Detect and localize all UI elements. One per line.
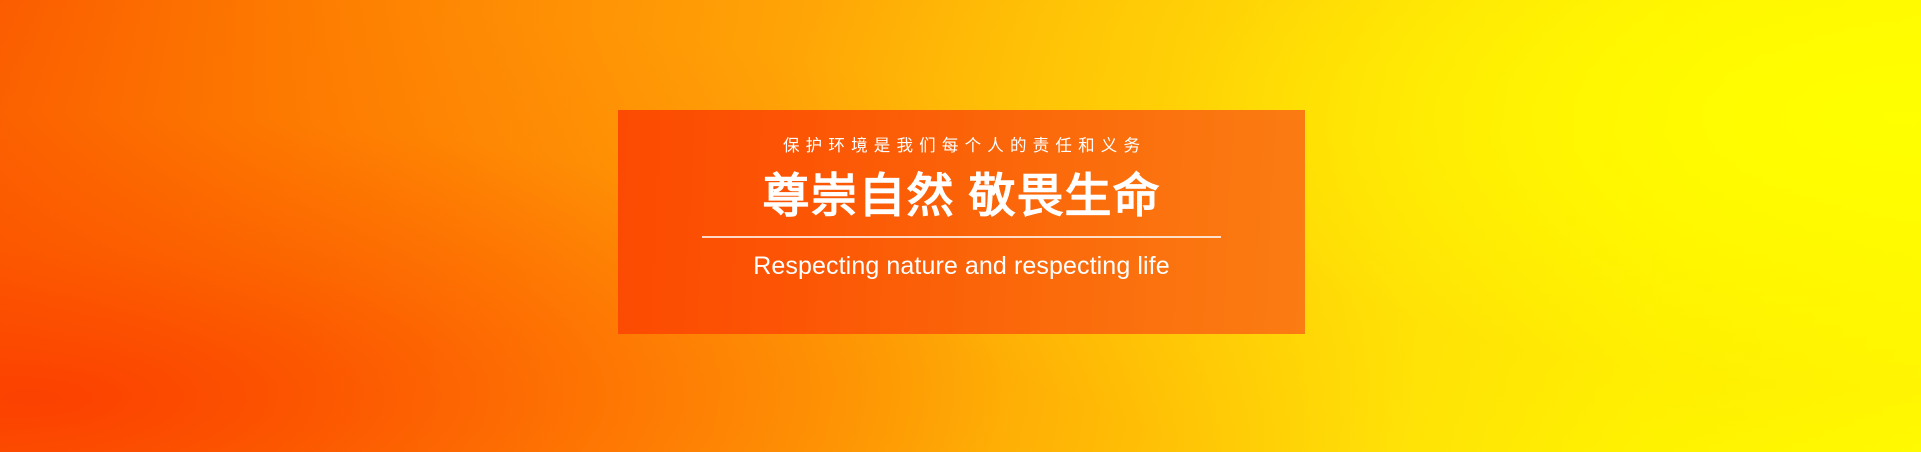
panel-tagline: Respecting nature and respecting life (753, 254, 1169, 279)
panel-headline: 尊崇自然 敬畏生命 (762, 169, 1160, 224)
panel-subtitle: 保护环境是我们每个人的责任和义务 (777, 138, 1146, 155)
panel-divider (702, 236, 1221, 238)
banner-stage: 保护环境是我们每个人的责任和义务 尊崇自然 敬畏生命 Respecting na… (0, 0, 1921, 452)
message-panel: 保护环境是我们每个人的责任和义务 尊崇自然 敬畏生命 Respecting na… (618, 110, 1305, 334)
